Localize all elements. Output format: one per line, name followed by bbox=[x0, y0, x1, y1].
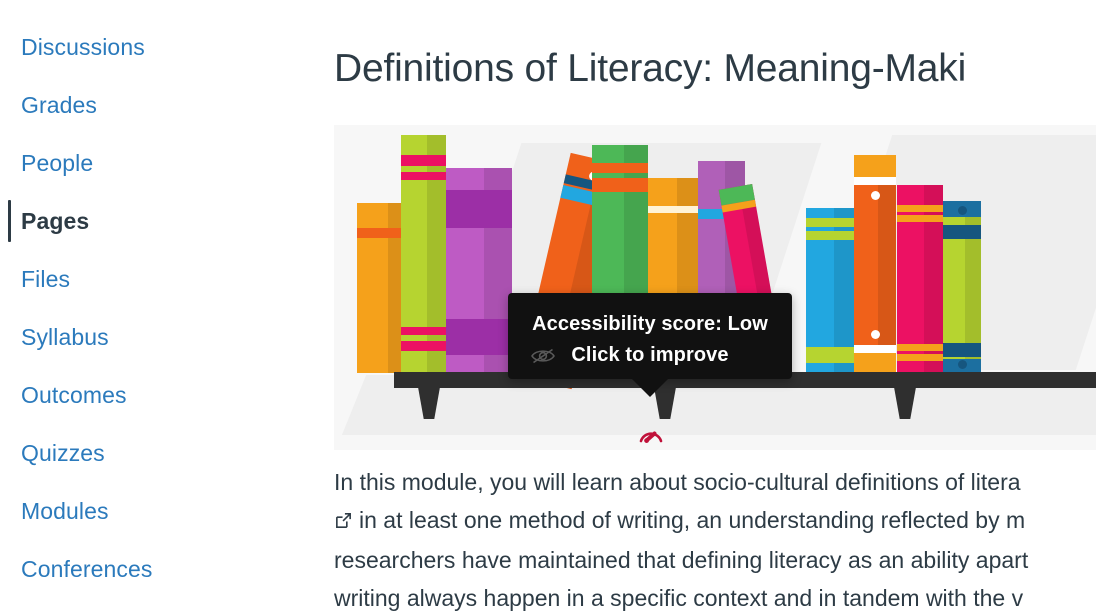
book-stripe bbox=[446, 319, 512, 355]
bookshelf-illustration bbox=[334, 125, 1096, 450]
accessibility-tooltip[interactable]: Accessibility score: Low Click to improv… bbox=[508, 293, 792, 379]
page-content: Definitions of Literacy: Meaning-Maki bbox=[300, 0, 1096, 616]
sidebar-item-discussions[interactable]: Discussions bbox=[0, 18, 300, 76]
accessibility-gauge-icon[interactable] bbox=[637, 422, 665, 450]
page-body-text: In this module, you will learn about soc… bbox=[334, 463, 1096, 616]
book-shade bbox=[878, 155, 896, 373]
book-stripe bbox=[854, 155, 896, 177]
book-stripe bbox=[943, 225, 981, 239]
external-link-icon[interactable] bbox=[334, 503, 353, 541]
sidebar-item-syllabus[interactable]: Syllabus bbox=[0, 308, 300, 366]
body-line-2-text: in at least one method of writing, an un… bbox=[359, 507, 1025, 533]
book-stripe bbox=[401, 341, 446, 351]
course-navigation-sidebar: Discussions Grades People Pages Files Sy… bbox=[0, 0, 300, 616]
book-stripe bbox=[592, 163, 648, 173]
book-stripe bbox=[401, 172, 446, 180]
body-line-4: writing always happen in a specific cont… bbox=[334, 579, 1096, 616]
book-stripe bbox=[648, 206, 698, 213]
book-dot bbox=[871, 330, 880, 339]
book bbox=[446, 168, 512, 373]
book-stripe bbox=[806, 347, 854, 363]
book-stripe bbox=[446, 190, 512, 228]
book-stripe bbox=[897, 354, 943, 361]
book-stripe bbox=[897, 344, 943, 351]
sidebar-item-conferences[interactable]: Conferences bbox=[0, 540, 300, 598]
book-shade bbox=[427, 135, 446, 373]
tooltip-line-score: Accessibility score: Low bbox=[508, 309, 792, 340]
book-stripe bbox=[854, 345, 896, 353]
shelf-leg bbox=[894, 387, 916, 419]
book-stripe bbox=[897, 205, 943, 212]
book bbox=[897, 185, 943, 373]
banner-image-container bbox=[334, 125, 1096, 450]
eye-slash-icon bbox=[530, 346, 556, 371]
page-title: Definitions of Literacy: Meaning-Maki bbox=[300, 0, 1096, 93]
body-line-3: researchers have maintained that definin… bbox=[334, 541, 1096, 579]
book-stripe bbox=[401, 327, 446, 335]
canvas-page-view: Discussions Grades People Pages Files Sy… bbox=[0, 0, 1096, 616]
sidebar-item-grades[interactable]: Grades bbox=[0, 76, 300, 134]
book-dot bbox=[871, 191, 880, 200]
book bbox=[401, 135, 446, 373]
book-stripe bbox=[854, 177, 896, 185]
book-stripe bbox=[943, 343, 981, 357]
book-stripe bbox=[806, 218, 854, 227]
book bbox=[806, 208, 854, 373]
book-stripe bbox=[897, 215, 943, 222]
sidebar-item-people[interactable]: People bbox=[0, 134, 300, 192]
book-dot bbox=[958, 206, 967, 215]
book-stripe bbox=[806, 231, 854, 240]
book-stripe bbox=[854, 353, 896, 373]
sidebar-item-outcomes[interactable]: Outcomes bbox=[0, 366, 300, 424]
sidebar-item-collaborations[interactable]: Collaborations bbox=[0, 598, 300, 616]
body-line-2: in at least one method of writing, an un… bbox=[334, 501, 1096, 541]
shelf-leg bbox=[418, 387, 440, 419]
book-stripe bbox=[401, 155, 446, 166]
book-stripe bbox=[592, 178, 648, 192]
sidebar-item-pages[interactable]: Pages bbox=[0, 192, 300, 250]
sidebar-item-files[interactable]: Files bbox=[0, 250, 300, 308]
book bbox=[854, 155, 896, 373]
sidebar-item-modules[interactable]: Modules bbox=[0, 482, 300, 540]
book-dot bbox=[958, 360, 967, 369]
book bbox=[943, 201, 981, 373]
body-line-1: In this module, you will learn about soc… bbox=[334, 463, 1096, 501]
sidebar-item-quizzes[interactable]: Quizzes bbox=[0, 424, 300, 482]
